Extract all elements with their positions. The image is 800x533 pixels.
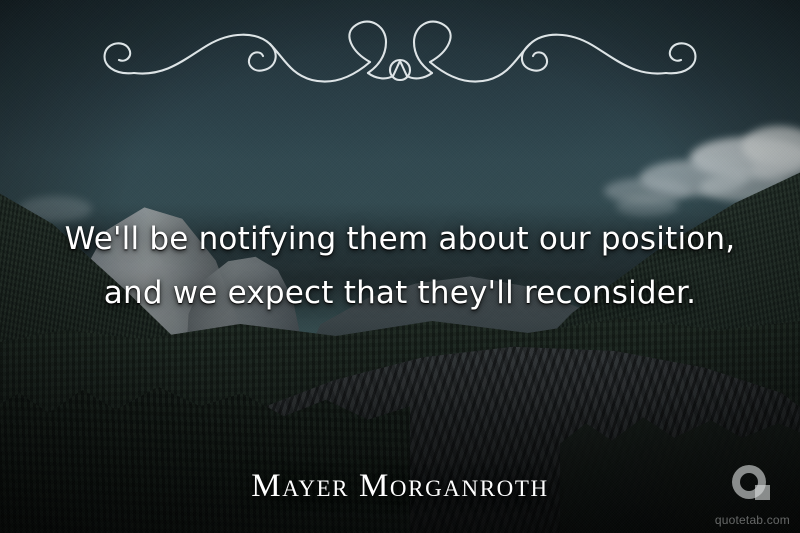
quote-line-1: We'll be notifying them about our positi… xyxy=(48,212,752,266)
brand-site-label: quotetab.com xyxy=(704,513,790,527)
brand-watermark: quotetab.com xyxy=(704,463,790,529)
flourish-divider-icon xyxy=(80,18,720,90)
quotetab-logo-icon xyxy=(728,463,774,509)
author-name: Mayer Morganroth xyxy=(0,466,800,506)
quote-text: We'll be notifying them about our positi… xyxy=(0,212,800,320)
quote-image-card: We'll be notifying them about our positi… xyxy=(0,0,800,533)
quote-line-2: and we expect that they'll reconsider. xyxy=(48,266,752,320)
